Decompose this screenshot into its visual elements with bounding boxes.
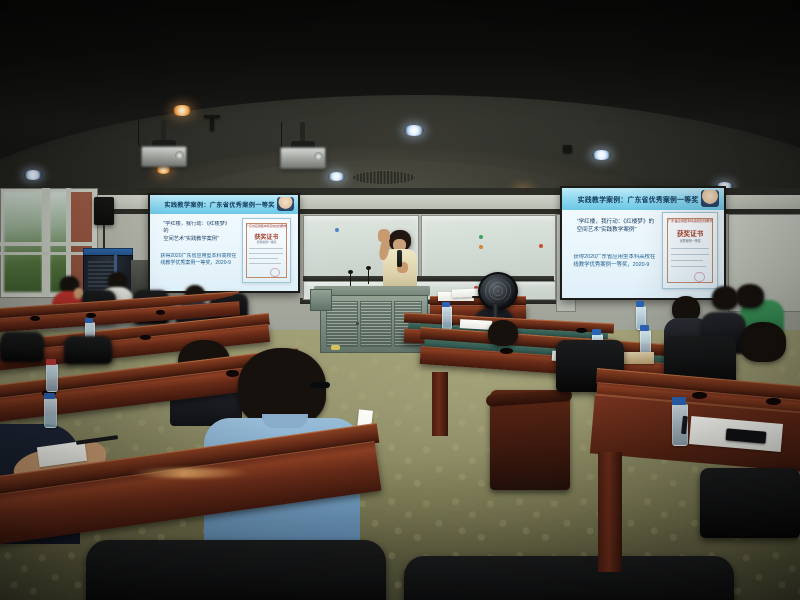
- bottle-cap: [46, 359, 56, 365]
- bottle-cap: [636, 301, 644, 307]
- attendee-head: [712, 286, 738, 310]
- slide-avatar-icon: [701, 190, 719, 207]
- window-rail: [0, 242, 96, 246]
- lectern-floor-item: [331, 345, 340, 350]
- chair: [0, 332, 44, 362]
- fan-grill: [485, 279, 511, 304]
- wall-speaker: [94, 197, 114, 225]
- microphone-head: [366, 266, 371, 270]
- certificate-subtitle: 优秀案例一等奖: [246, 240, 288, 244]
- lectern-louver-panel: [360, 301, 392, 347]
- ceiling-hanger: [210, 117, 214, 131]
- projector-lens: [175, 151, 184, 160]
- left-slide-title: 实践教学案例：广东省优秀案例一等奖: [162, 198, 277, 211]
- bottle-cap: [44, 393, 55, 399]
- whiteboard-magnet: [479, 235, 483, 239]
- right-slide-certificate: 广东省应用型本科高校在线教学 获奖证书 优秀案例一等奖: [662, 212, 717, 289]
- slide-avatar-icon: [277, 197, 293, 211]
- lectern-side-shelf: [310, 289, 332, 311]
- electric-fan-head: [478, 272, 518, 310]
- certificate-line: [671, 260, 703, 261]
- right-screen-frame: 实践教学案例：广东省优秀案例一等奖 "学红楼，我行动：《红楼梦》的 空间艺术"实…: [560, 186, 726, 300]
- foreground-attendee-glasses-icon: [310, 382, 330, 388]
- certificate-heading: 广东省应用型本科高校在线教学: [246, 223, 288, 228]
- desk-cable-grommet: [140, 335, 151, 340]
- whiteboard-magnet: [539, 244, 543, 248]
- bottle-cap: [442, 302, 450, 307]
- lectern-knob: [356, 322, 359, 325]
- left-slide-certificate: 广东省应用型本科高校在线教学 获奖证书 优秀案例一等奖: [242, 218, 291, 283]
- downlight-cool: [24, 170, 42, 180]
- chair: [700, 468, 800, 538]
- microphone-head: [348, 270, 353, 274]
- water-bottle: [442, 306, 452, 330]
- water-bottle: [44, 398, 57, 428]
- window-guardrail: [0, 252, 96, 255]
- certificate-seal: [694, 272, 705, 282]
- desk-cable-grommet: [766, 398, 781, 405]
- bottle-cap: [85, 318, 93, 323]
- ceiling-air-vent: [352, 170, 416, 185]
- projector-arm: [161, 120, 166, 142]
- ceiling-hanger: [204, 115, 220, 118]
- bottle-cap: [592, 329, 601, 335]
- certificate-award-title: 获奖证书: [670, 228, 711, 238]
- certificate-heading: 广东省应用型本科高校在线教学: [667, 218, 714, 223]
- certificate-line: [671, 248, 709, 249]
- bottle-cap: [640, 325, 649, 331]
- handheld-microphone: [397, 250, 402, 267]
- certificate-line: [249, 263, 280, 264]
- whiteboard-magnet: [335, 228, 339, 232]
- certificate-line: [671, 266, 706, 267]
- right-slide-quote: "学红楼，我行动：《红楼梦》的 空间艺术"实践教学案例": [577, 218, 655, 234]
- lectern-microphone: [350, 272, 367, 286]
- desk-cable-grommet: [30, 316, 40, 321]
- downlight-cool: [404, 125, 424, 136]
- left-slide-caption: 获得2020广东省应用型本科高校在 线教学优秀案例一等奖，2020-9: [160, 253, 237, 268]
- lecture-hall-photo: 实践教学案例：广东省优秀案例一等奖 "学红楼，我行动：《红楼梦》的 空间艺术"实…: [0, 0, 800, 600]
- bottle-cap: [672, 397, 686, 405]
- chair: [64, 336, 112, 364]
- chair-foreground: [86, 540, 386, 600]
- presenter-raised-hand: [378, 229, 390, 242]
- certificate-line: [249, 248, 283, 249]
- desk-leg: [598, 452, 622, 572]
- left-screen-frame: 实践教学案例：广东省优秀案例一等奖 "学红楼，我行动：《红楼梦》的 空间艺术"实…: [148, 193, 300, 293]
- desk-cable-grommet: [226, 370, 239, 377]
- downlight-cool: [592, 150, 611, 160]
- attendee-head: [740, 322, 786, 362]
- certificate-line: [249, 253, 283, 254]
- ceiling-sensor: [563, 145, 572, 153]
- downlight-cool: [328, 172, 345, 181]
- downlight-warm: [172, 105, 192, 116]
- lectern-microphone: [368, 268, 383, 284]
- whiteboard-magnet: [479, 245, 483, 249]
- right-slide-title: 实践教学案例：广东省优秀案例一等奖: [575, 191, 701, 206]
- certificate-line: [671, 254, 709, 255]
- desk-cable-grommet: [576, 328, 587, 333]
- left-slide-quote: "学红楼，我行动：《红楼梦》的 空间艺术"实践教学案例": [163, 221, 234, 244]
- attendee-collar: [262, 414, 308, 428]
- right-slide: 实践教学案例：广东省优秀案例一等奖 "学红楼，我行动：《红楼梦》的 空间艺术"实…: [562, 188, 724, 298]
- desk-light-reflection: [130, 468, 250, 478]
- right-slide-caption: 获得2020广东省应用型本科高校在 线教学优秀案例一等奖，2020-9: [573, 254, 657, 270]
- water-bottle: [46, 364, 58, 392]
- attendee-head: [736, 284, 764, 308]
- desk-cable-grommet: [692, 392, 707, 399]
- book-on-desk: [620, 352, 654, 364]
- desk-cable-grommet: [156, 310, 165, 315]
- left-slide: 实践教学案例：广东省优秀案例一等奖 "学红楼，我行动：《红楼梦》的 空间艺术"实…: [150, 195, 298, 291]
- projector-lens: [314, 152, 323, 161]
- ceiling: [0, 0, 800, 200]
- chair-foreground-right: [404, 556, 734, 600]
- attendee-head: [488, 320, 518, 346]
- certificate-line: [249, 258, 277, 259]
- certificate-subtitle: 优秀案例一等奖: [667, 238, 714, 243]
- desk-cable-grommet: [500, 348, 513, 354]
- handout-paper: [460, 319, 492, 330]
- whiteboard-right-panel: [421, 215, 556, 281]
- desk-leg: [432, 372, 448, 436]
